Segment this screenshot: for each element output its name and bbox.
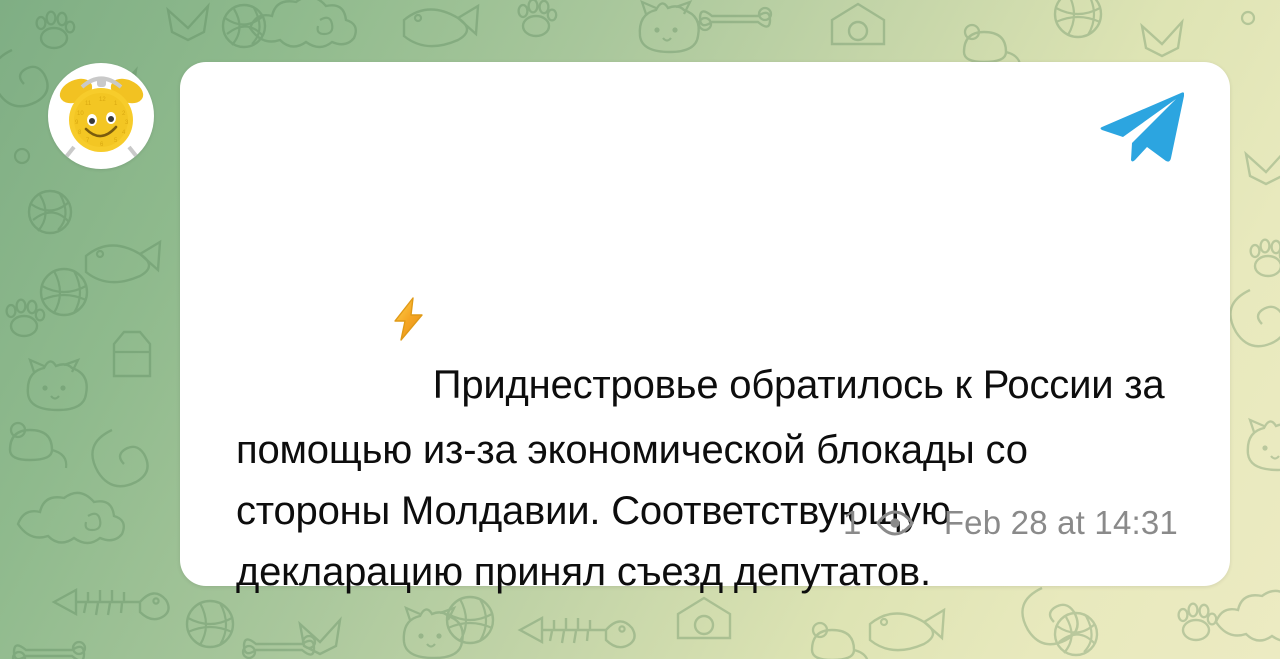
message-timestamp: Feb 28 at 14:31 bbox=[944, 506, 1178, 539]
alarm-clock-icon: 121 23 45 67 89 1011 bbox=[48, 63, 154, 169]
avatar[interactable]: 121 23 45 67 89 1011 bbox=[48, 63, 154, 169]
svg-text:10: 10 bbox=[77, 111, 84, 117]
message-meta: 1 Feb 28 at 14:31 bbox=[843, 506, 1178, 539]
eye-icon bbox=[876, 510, 914, 536]
message-bubble[interactable]: Приднестровье обратилось к России за пом… bbox=[180, 62, 1230, 586]
telegram-paper-plane-icon bbox=[1098, 90, 1184, 164]
message-text: Приднестровье обратилось к России за пом… bbox=[236, 175, 1166, 659]
view-count: 1 bbox=[843, 506, 862, 539]
high-voltage-emoji bbox=[301, 236, 426, 420]
svg-text:11: 11 bbox=[85, 101, 92, 107]
telegram-chat-screen: 121 23 45 67 89 1011 bbox=[0, 0, 1280, 659]
svg-text:12: 12 bbox=[99, 97, 106, 103]
